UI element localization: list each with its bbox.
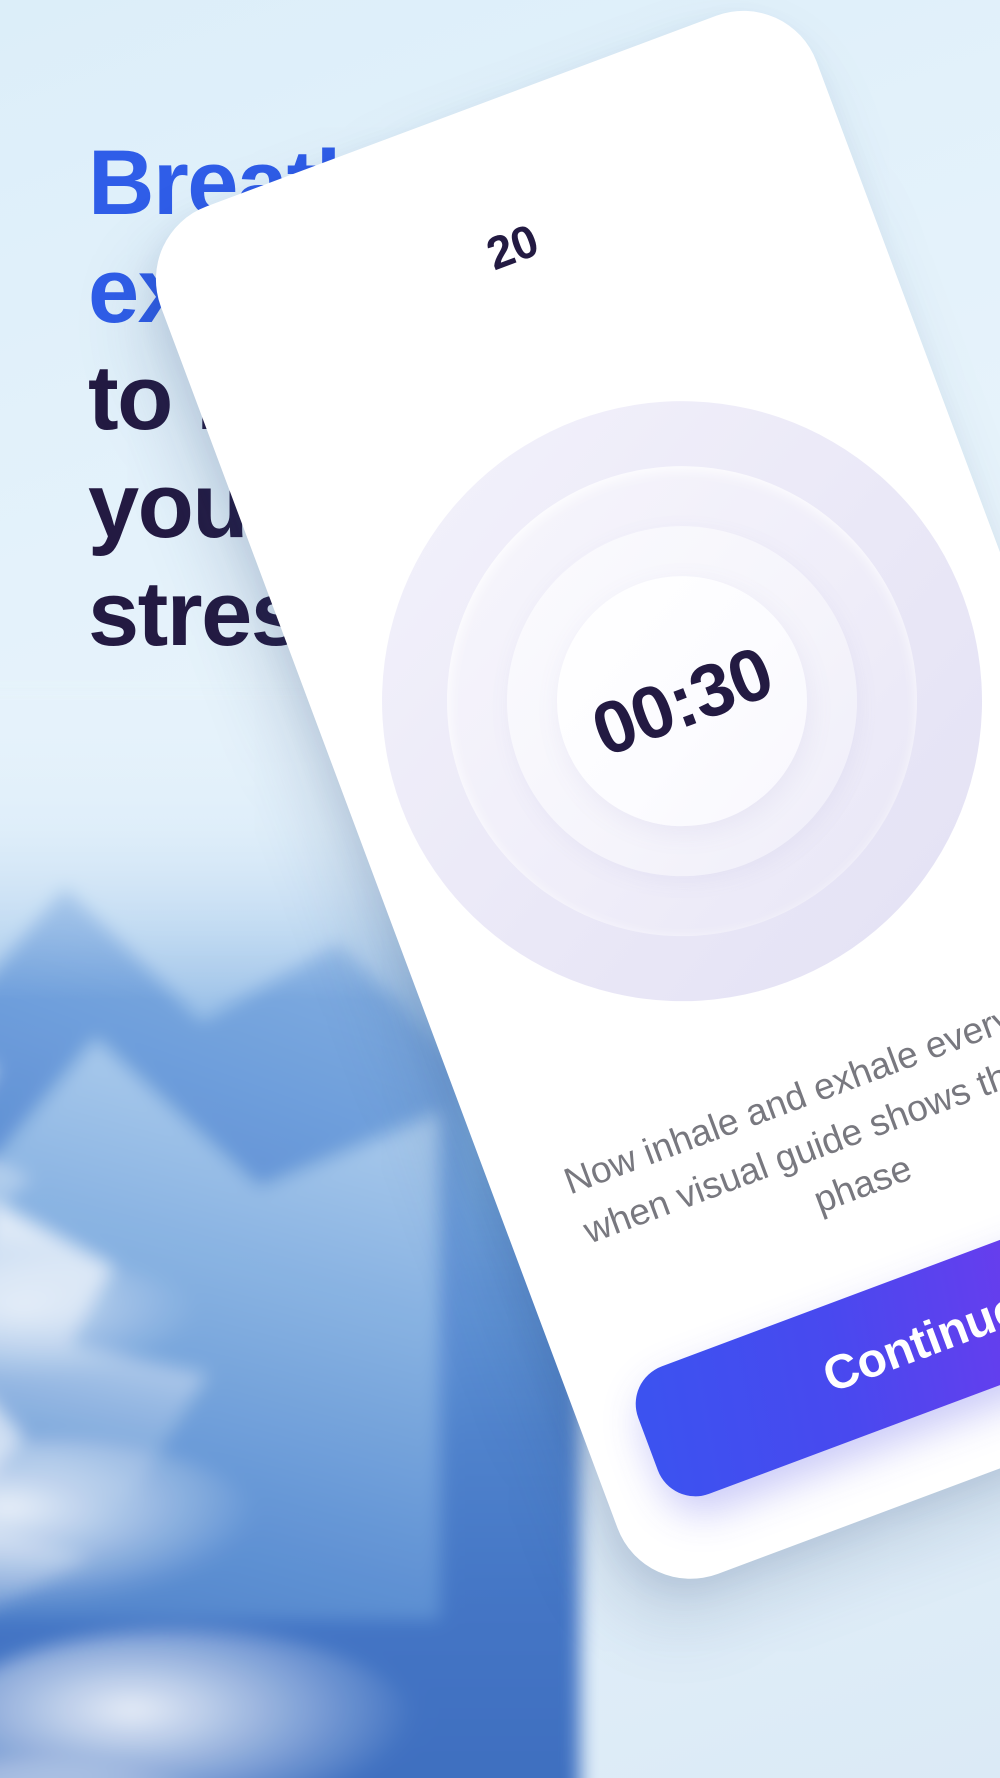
continue-button-label: Continue xyxy=(816,1280,1000,1404)
promo-screenshot: Breathing exercises to relieve your stre… xyxy=(0,0,1000,1778)
